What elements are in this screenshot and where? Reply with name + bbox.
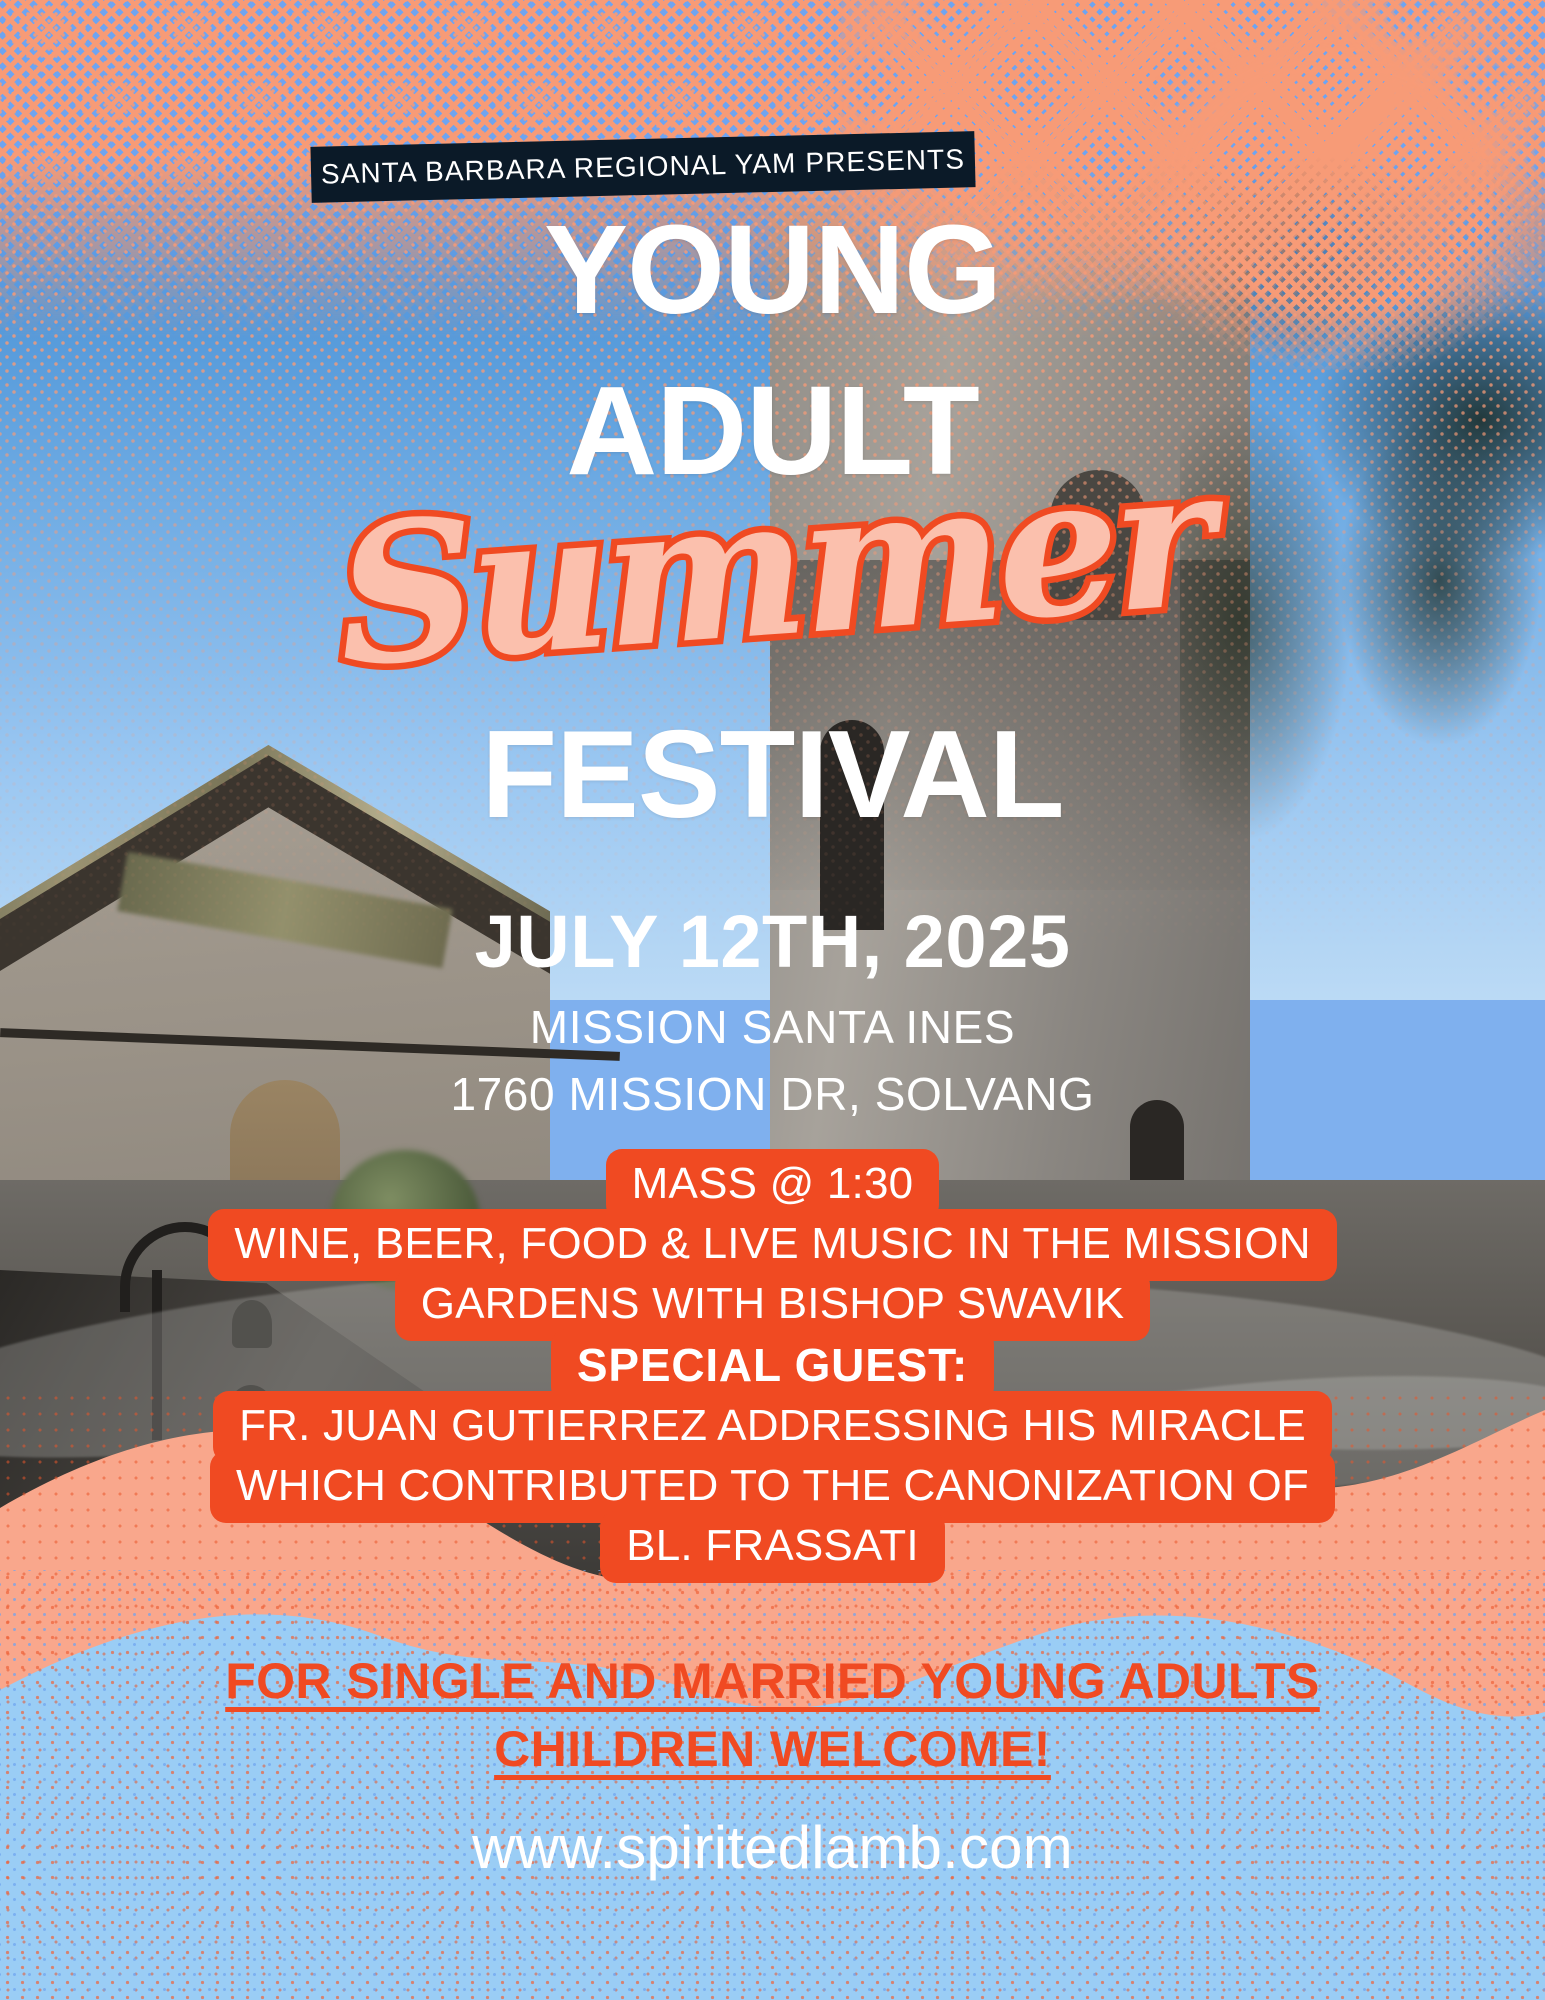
blue-wave-dots (0, 1570, 1545, 2000)
footer-audience-text: FOR SINGLE AND MARRIED YOUNG ADULTS (225, 1653, 1320, 1709)
event-flyer: SANTA BARBARA REGIONAL YAM PRESENTS YOUN… (0, 0, 1545, 2000)
event-venue: MISSION SANTA INES (0, 1000, 1545, 1054)
event-date: JULY 12TH, 2025 (0, 899, 1545, 984)
event-details-highlight-block: MASS @ 1:30 WINE, BEER, FOOD & LIVE MUSI… (0, 1155, 1545, 1577)
title-line-young: YOUNG (0, 212, 1545, 328)
event-address: 1760 MISSION DR, SOLVANG (0, 1067, 1545, 1121)
title-line-festival: FESTIVAL (0, 718, 1545, 832)
title-line-adult: ADULT (0, 373, 1545, 489)
footer-children-text: CHILDREN WELCOME! (494, 1721, 1051, 1777)
footer-website-link[interactable]: www.spiritedlamb.com (0, 1813, 1545, 1882)
footer-audience-line: FOR SINGLE AND MARRIED YOUNG ADULTS (0, 1652, 1545, 1710)
footer-children-line: CHILDREN WELCOME! (0, 1720, 1545, 1778)
detail-line-frassati: BL. FRASSATI (600, 1511, 945, 1583)
presenter-banner-text: SANTA BARBARA REGIONAL YAM PRESENTS (321, 143, 966, 190)
